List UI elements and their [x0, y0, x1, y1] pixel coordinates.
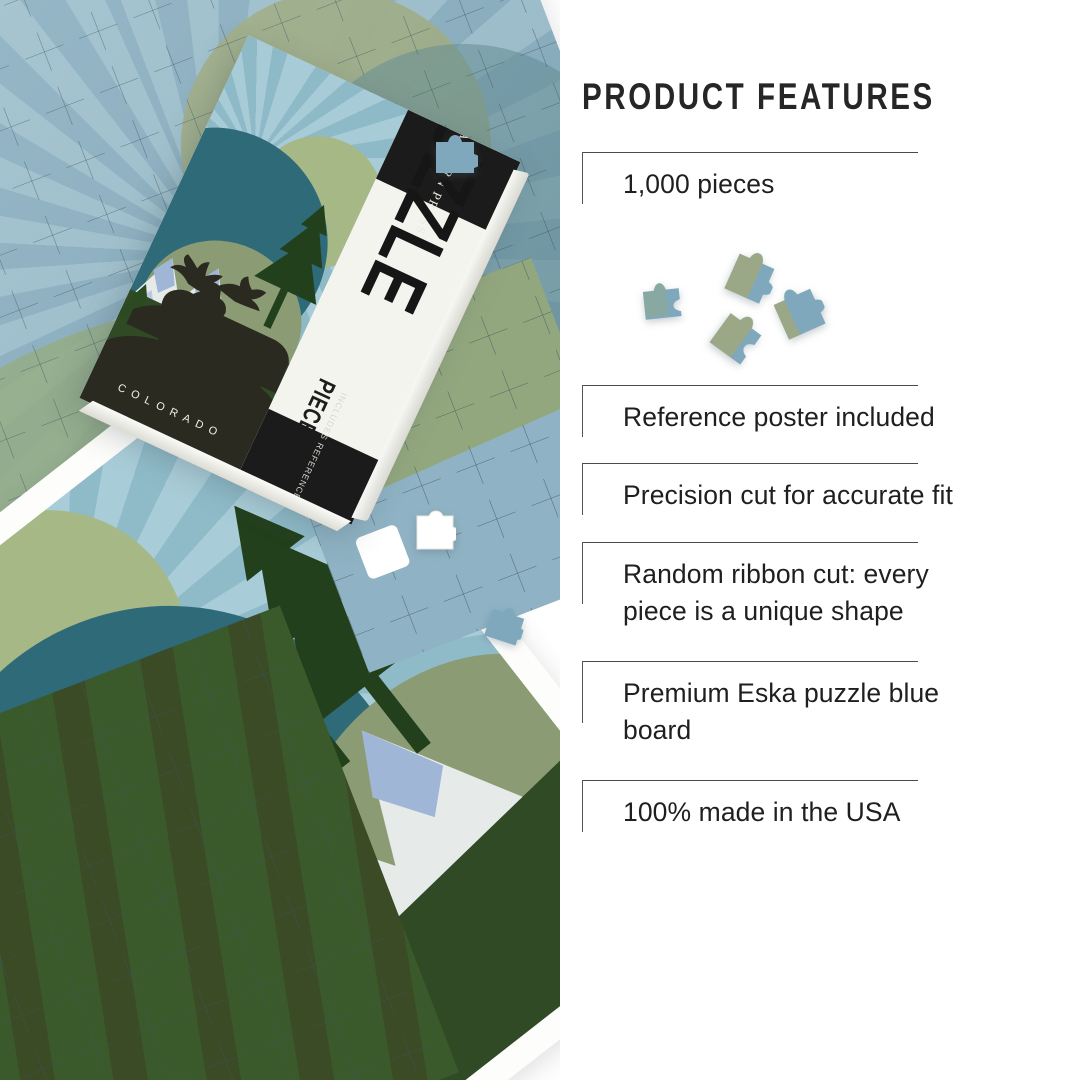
feature-tick — [582, 542, 583, 604]
feature-divider — [582, 385, 918, 386]
product-features-panel: PRODUCT FEATURES 1,000 pieces Reference … — [560, 0, 1080, 1080]
product-listing-image: COLORADO LANTERN PRESS PUZZLE PIECE 1000 — [0, 0, 1080, 1080]
feature-tick — [582, 780, 583, 832]
feature-tick — [582, 463, 583, 515]
feature-label: 1,000 pieces — [623, 166, 993, 203]
feature-label: Precision cut for accurate fit — [623, 477, 1023, 514]
feature-tick — [582, 385, 583, 437]
feature-tick — [582, 661, 583, 723]
product-photo: COLORADO LANTERN PRESS PUZZLE PIECE 1000 — [0, 0, 560, 1080]
feature-tick — [582, 152, 583, 204]
feature-divider — [582, 780, 918, 781]
loose-puzzle-piece — [432, 134, 478, 174]
feature-divider — [582, 463, 918, 464]
feature-label: 100% made in the USA — [623, 794, 993, 831]
loose-puzzle-piece — [638, 280, 686, 324]
feature-divider — [582, 152, 918, 153]
page-title: PRODUCT FEATURES — [582, 76, 935, 118]
feature-label: Reference poster included — [623, 399, 993, 436]
feature-divider — [582, 661, 918, 662]
feature-label: Premium Eska puzzle blue board — [623, 675, 943, 748]
loose-puzzle-piece — [412, 510, 456, 552]
feature-divider — [582, 542, 918, 543]
feature-label: Random ribbon cut: every piece is a uniq… — [623, 556, 958, 629]
